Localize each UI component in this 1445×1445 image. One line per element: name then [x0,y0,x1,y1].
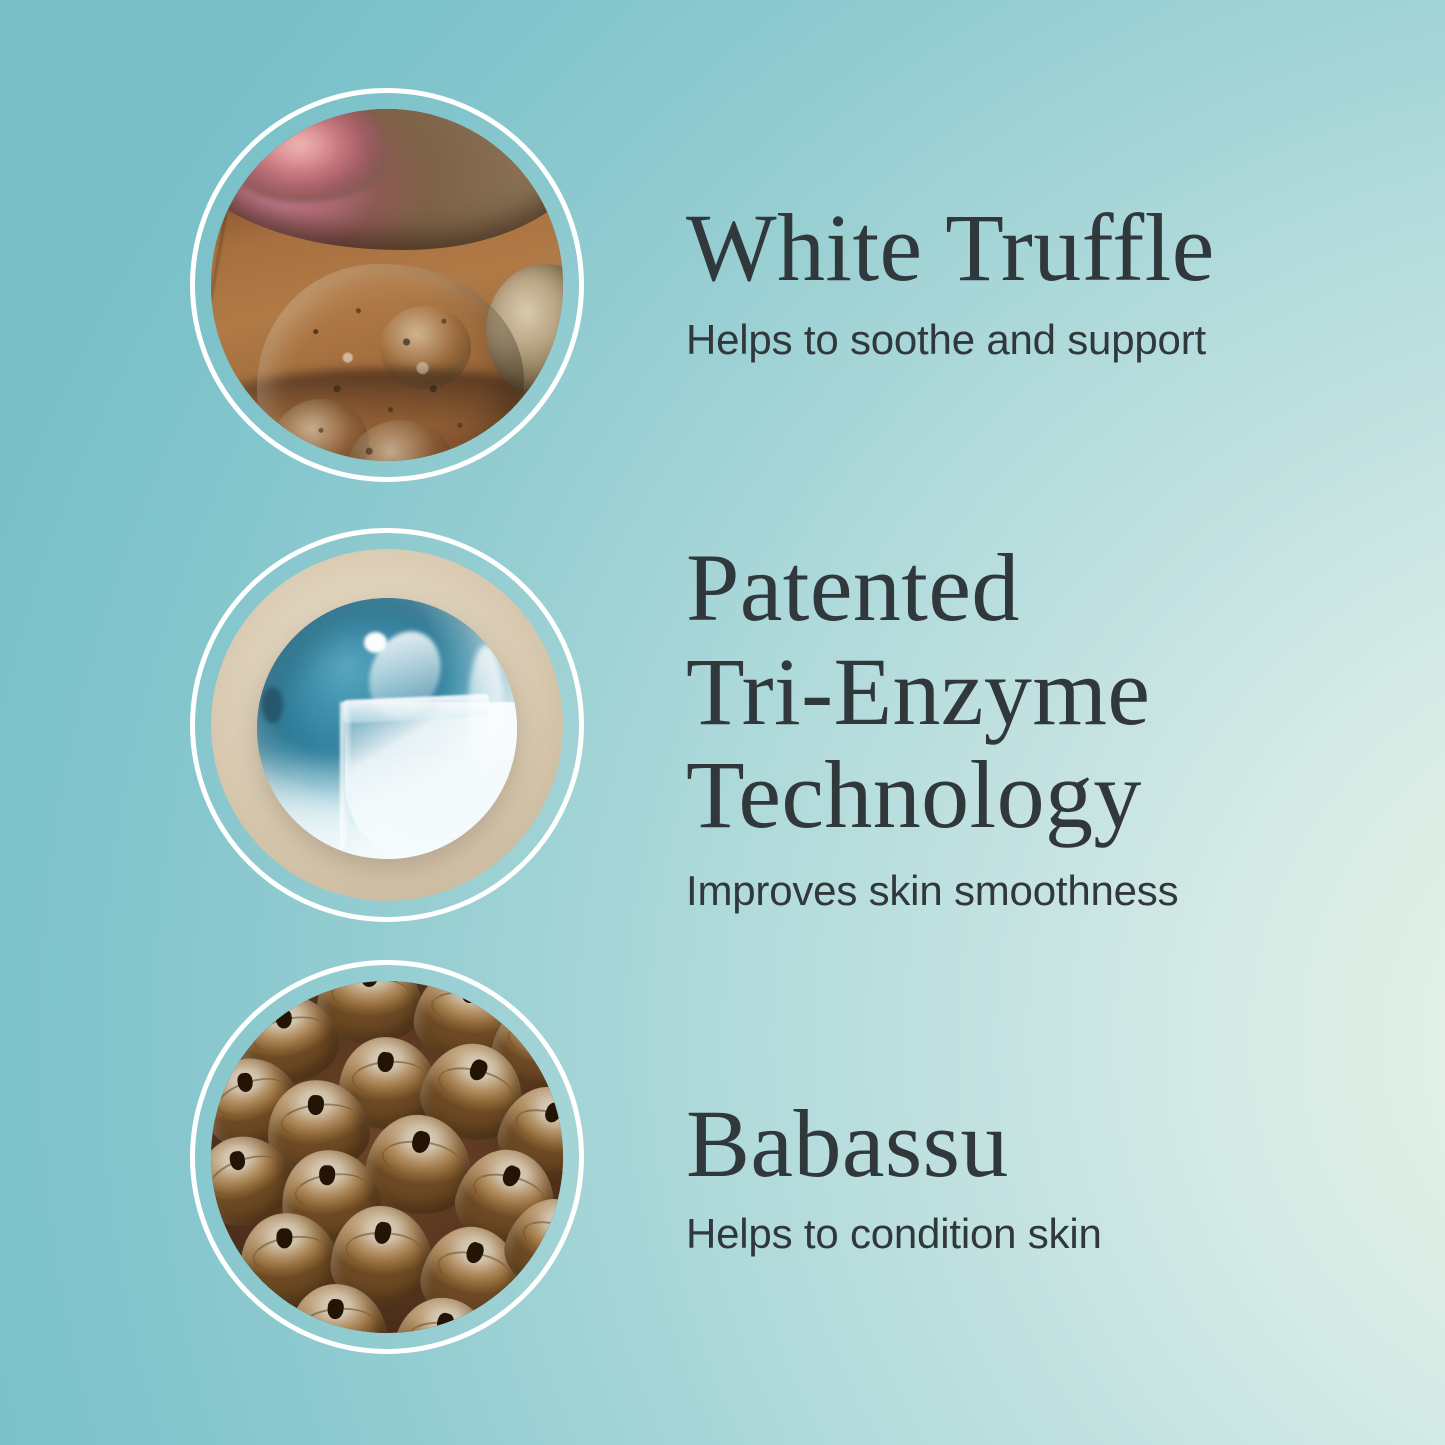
gel-beige-background [211,549,563,901]
ingredient-benefits-poster: White Truffle Helps to soothe and suppor… [0,0,1445,1445]
ingredient-description: Helps to condition skin [686,1210,1386,1258]
ingredient-title-line-3: Technology [686,741,1142,848]
ingredient-title: Babassu [686,1092,1386,1196]
ingredient-text-babassu: Babassu Helps to condition skin [686,1092,1386,1258]
ingredient-text-tri-enzyme: Patented Tri-Enzyme Technology Improves … [686,536,1386,915]
babassu-background [211,981,563,1333]
ingredient-title: Patented Tri-Enzyme Technology [686,536,1386,847]
gel-highlight-rim [468,645,504,780]
truffle-pink-patch [224,109,387,203]
babassu-image-circle [190,960,584,1354]
tri-enzyme-gel-photo [211,549,563,901]
ingredient-title: White Truffle [686,196,1386,300]
tri-enzyme-image-circle [190,528,584,922]
gel-highlight-small [364,632,387,653]
white-truffle-photo [211,109,563,461]
ingredient-description: Improves skin smoothness [686,867,1386,915]
gel-notch-vertical [340,702,350,848]
white-truffle-image-circle [190,88,584,482]
gel-sphere [257,598,517,858]
ingredient-title-line-2: Tri-Enzyme [686,638,1150,745]
ingredient-description: Helps to soothe and support [686,316,1386,364]
ingredient-title-line-1: Patented [686,534,1020,641]
truffle-wood-background [211,109,563,461]
babassu-nuts-photo [211,981,563,1333]
gel-shadow-left [262,687,283,723]
ingredient-text-white-truffle: White Truffle Helps to soothe and suppor… [686,196,1386,364]
